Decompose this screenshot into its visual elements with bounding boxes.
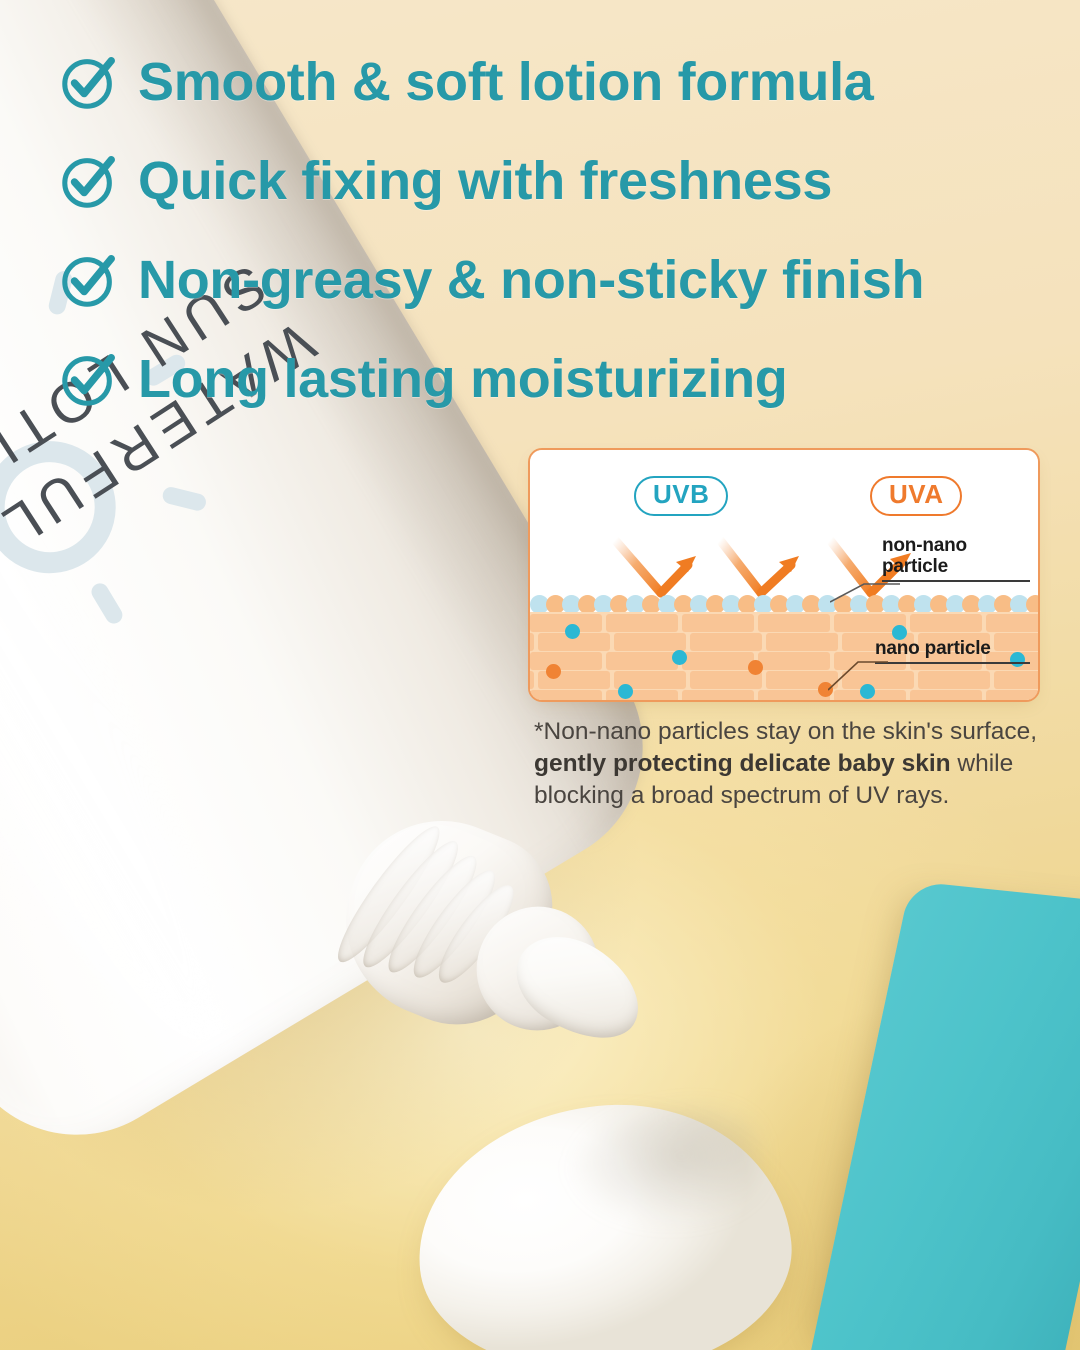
brick [530,652,602,670]
brick-row [530,688,1038,700]
brick [758,614,830,632]
benefit-item: Smooth & soft lotion formula [58,44,1058,120]
uv-rays [530,450,1040,610]
uv-protection-diagram: UVB UVA non-nano particle n [528,448,1040,702]
non-nano-leader-line [830,578,900,604]
brick [530,690,602,700]
benefit-label: Smooth & soft lotion formula [138,55,874,109]
nano-particle [1010,652,1025,667]
sun-ray [161,485,208,512]
benefit-label: Quick fixing with freshness [138,154,832,208]
brick [606,652,678,670]
brick [682,652,754,670]
benefits-list: Smooth & soft lotion formula Quick fixin… [58,44,1058,440]
caption-part-1: *Non-nano particles stay on the skin's s… [534,718,1037,745]
circled-check-icon [58,249,120,311]
brick [530,633,534,651]
brick [606,690,678,700]
circled-check-icon [58,348,120,410]
non-nano-particle-bead [1026,595,1038,614]
nano-leader-line [828,658,888,692]
nano-particle [748,660,763,675]
nano-particle [546,664,561,679]
nano-particle [565,624,580,639]
nano-particle [618,684,633,699]
benefit-label: Long lasting moisturizing [138,352,787,406]
nano-particle [672,650,687,665]
brick [994,633,1038,651]
benefit-item: Non-greasy & non-sticky finish [58,242,1058,318]
lotion-blob-shadow [562,1100,767,1237]
caption-part-2: while [951,750,1014,777]
non-nano-label-line2: particle [882,556,948,577]
brick [986,614,1038,632]
non-nano-particle-label: non-nano particle [882,535,967,578]
circled-check-icon [58,150,120,212]
brick [606,614,678,632]
brick [918,671,990,689]
non-nano-label-line1: non-nano [882,535,967,556]
caption-bold: gently protecting delicate baby skin [534,750,951,777]
benefit-item: Long lasting moisturizing [58,341,1058,417]
non-nano-label-underline [882,580,1030,582]
brick [994,671,1038,689]
brick [682,614,754,632]
brick [682,690,754,700]
benefit-label: Non-greasy & non-sticky finish [138,253,924,307]
circled-check-icon [58,51,120,113]
brick [758,652,830,670]
brick [910,614,982,632]
diagram-caption: *Non-nano particles stay on the skin's s… [534,716,1046,812]
brick [910,690,982,700]
sun-ray [88,580,125,626]
brick [766,633,838,651]
nano-particle-label: nano particle [875,638,991,659]
brick [614,633,686,651]
caption-part-3: blocking a broad spectrum of UV rays. [534,782,949,809]
brick [986,690,1038,700]
brick [530,671,534,689]
brick [690,633,762,651]
benefit-item: Quick fixing with freshness [58,143,1058,219]
nano-label-underline [875,662,1030,664]
